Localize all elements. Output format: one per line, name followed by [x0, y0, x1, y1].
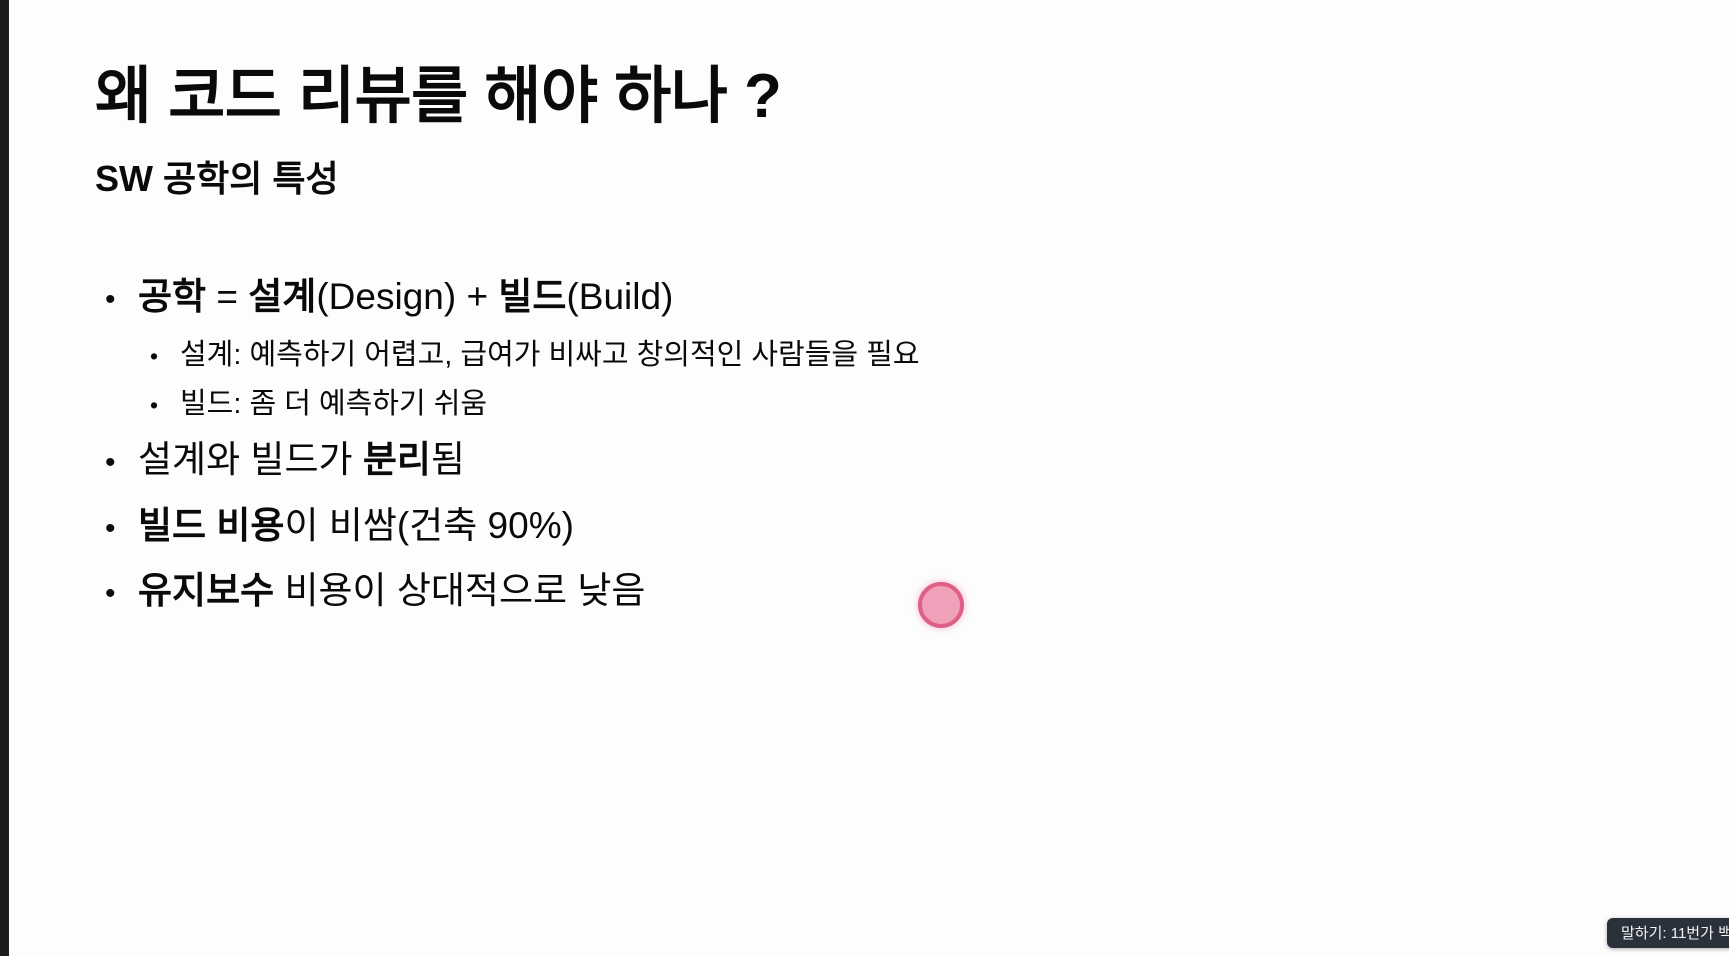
bullet-text-run: 유지보수: [138, 570, 274, 611]
bullet-text: 설계: 예측하기 어렵고, 급여가 비싸고 창의적인 사람들을 필요: [180, 333, 920, 378]
bullet-marker-icon: •: [105, 448, 138, 478]
bullet-text-run: 빌드 비용: [138, 505, 284, 546]
bullet-marker-icon: •: [150, 345, 180, 368]
bullet-marker-icon: •: [105, 285, 138, 315]
bullet-text: 설계와 빌드가 분리됨: [138, 431, 465, 488]
bullet-text-run: 공학: [138, 276, 206, 317]
slide-title: 왜 코드 리뷰를 해야 하나 ?: [95, 62, 781, 131]
bullet-text-run: 설계: [248, 276, 316, 317]
pointer-highlight-circle: [918, 582, 964, 628]
bullet-text-run: 이 비쌈(건축 90%): [284, 505, 573, 546]
bullet-text-run: 설계: 예측하기 어렵고, 급여가 비싸고 창의적인 사람들을 필요: [180, 339, 920, 371]
slide-bullet-list: •공학 = 설계(Design) + 빌드(Build)•설계: 예측하기 어렵…: [95, 268, 1669, 627]
bullet-item: •유지보수 비용이 상대적으로 낮음: [95, 562, 1669, 619]
bullet-text: 빌드: 좀 더 예측하기 쉬움: [180, 382, 487, 427]
bullet-item: •설계와 빌드가 분리됨: [95, 431, 1669, 488]
bullet-text-run: =: [206, 276, 248, 317]
bullet-text-run: 빌드: 좀 더 예측하기 쉬움: [180, 388, 487, 420]
status-tooltip-text: 말하기: 11번가 백명: [1621, 926, 1729, 941]
bullet-text-run: 설계와 빌드가: [138, 439, 363, 480]
bullet-text-run: 분리: [363, 439, 431, 480]
bullet-text: 공학 = 설계(Design) + 빌드(Build): [138, 268, 673, 325]
bullet-text: 빌드 비용이 비쌈(건축 90%): [138, 497, 574, 554]
bullet-text-run: 비용이 상대적으로 낮음: [274, 570, 645, 611]
presentation-slide: 왜 코드 리뷰를 해야 하나 ? SW 공학의 특성 •공학 = 설계(Desi…: [9, 0, 1729, 956]
left-edge-bar: [0, 0, 9, 956]
bullet-text-run: 빌드: [498, 276, 566, 317]
bullet-marker-icon: •: [150, 394, 180, 417]
bullet-marker-icon: •: [105, 514, 138, 544]
status-tooltip: 말하기: 11번가 백명: [1607, 918, 1729, 948]
bullet-text-run: (Design) +: [316, 276, 498, 317]
bullet-item: •설계: 예측하기 어렵고, 급여가 비싸고 창의적인 사람들을 필요: [95, 333, 1669, 378]
bullet-text-run: (Build): [566, 276, 673, 317]
bullet-text: 유지보수 비용이 상대적으로 낮음: [138, 562, 645, 619]
bullet-item: •빌드: 좀 더 예측하기 쉬움: [95, 382, 1669, 427]
bullet-marker-icon: •: [105, 579, 138, 609]
slide-subtitle: SW 공학의 특성: [95, 158, 339, 199]
bullet-item: •공학 = 설계(Design) + 빌드(Build): [95, 268, 1669, 325]
bullet-text-run: 됨: [431, 439, 465, 480]
screen: 왜 코드 리뷰를 해야 하나 ? SW 공학의 특성 •공학 = 설계(Desi…: [0, 0, 1729, 956]
bullet-item: •빌드 비용이 비쌈(건축 90%): [95, 497, 1669, 554]
